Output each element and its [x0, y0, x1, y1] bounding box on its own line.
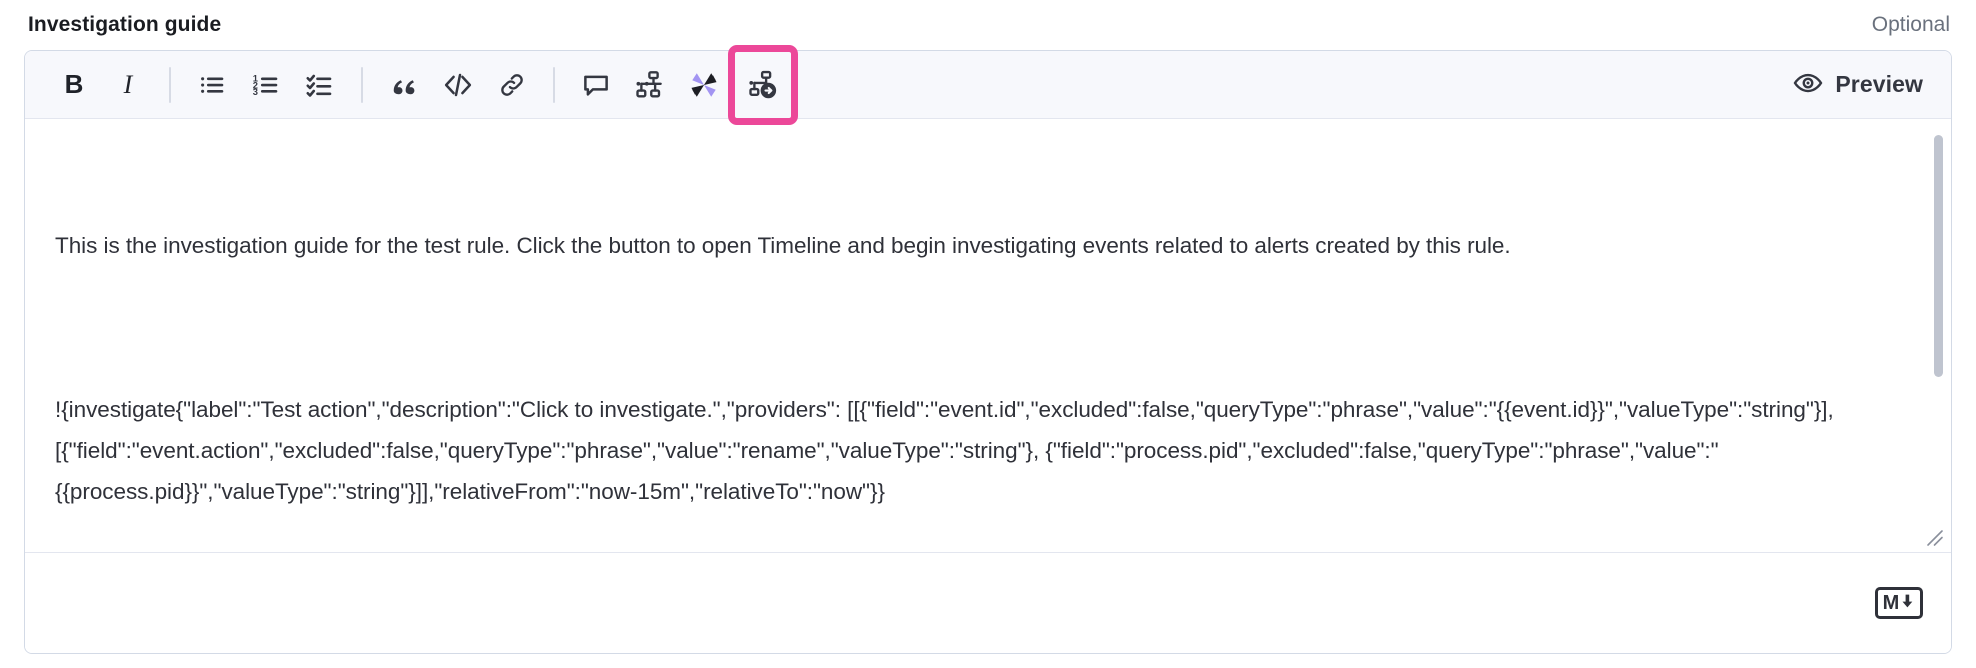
preview-label: Preview — [1835, 71, 1923, 98]
link-icon — [498, 71, 526, 99]
osquery-button[interactable] — [623, 60, 677, 110]
bold-icon: B — [65, 69, 84, 100]
bold-button[interactable]: B — [47, 60, 101, 110]
toolbar-group-text-style: B I — [47, 60, 155, 110]
markdown-arrow-icon — [1900, 593, 1915, 614]
paragraph-investigate-syntax: !{investigate{"label":"Test action","des… — [55, 389, 1911, 512]
ordered-list-icon: 1 2 3 — [251, 70, 281, 100]
code-icon — [443, 70, 473, 100]
paragraph-intro: This is the investigation guide for the … — [55, 225, 1911, 266]
ordered-list-button[interactable]: 1 2 3 — [239, 60, 293, 110]
markdown-help-button[interactable]: M — [1875, 587, 1923, 619]
markdown-editor-panel: B I — [24, 50, 1952, 654]
code-block-button[interactable] — [431, 60, 485, 110]
task-list-icon — [305, 70, 335, 100]
toolbar-group-security — [569, 52, 795, 118]
timeline-icon — [688, 69, 720, 101]
timeline-investigate-icon — [748, 70, 778, 100]
optional-badge: Optional — [1872, 13, 1950, 37]
editor-scrollbar-thumb[interactable] — [1934, 135, 1943, 377]
unordered-list-button[interactable] — [185, 60, 239, 110]
editor-scrollbar[interactable] — [1934, 135, 1943, 535]
field-header: Investigation guide Optional — [0, 0, 1976, 50]
toolbar-divider-2 — [361, 67, 363, 103]
editor-toolbar: B I — [25, 51, 1951, 119]
resize-handle[interactable] — [1922, 525, 1944, 547]
markdown-badge-label: M — [1883, 593, 1900, 613]
page-title: Investigation guide — [28, 13, 221, 37]
osquery-node-icon — [635, 70, 665, 100]
markdown-textarea[interactable]: This is the investigation guide for the … — [25, 119, 1951, 553]
editor-footer: M — [25, 553, 1951, 653]
link-button[interactable] — [485, 60, 539, 110]
toolbar-divider-3 — [553, 67, 555, 103]
unordered-list-icon — [197, 70, 227, 100]
insert-investigation-query-button[interactable] — [735, 52, 791, 118]
eye-icon — [1793, 68, 1823, 101]
preview-button[interactable]: Preview — [1787, 64, 1929, 105]
italic-button[interactable]: I — [101, 60, 155, 110]
blockquote-button[interactable] — [377, 60, 431, 110]
guide-content: This is the investigation guide for the … — [55, 143, 1911, 553]
comment-button[interactable] — [569, 60, 623, 110]
quote-icon — [390, 71, 418, 99]
italic-icon: I — [124, 70, 133, 100]
task-list-button[interactable] — [293, 60, 347, 110]
toolbar-group-blocks — [377, 60, 539, 110]
timeline-button[interactable] — [677, 60, 731, 110]
toolbar-group-lists: 1 2 3 — [185, 60, 347, 110]
svg-text:3: 3 — [253, 87, 258, 97]
investigation-guide-screen: Investigation guide Optional B I — [0, 0, 1976, 668]
comment-icon — [581, 70, 611, 100]
toolbar-divider-1 — [169, 67, 171, 103]
